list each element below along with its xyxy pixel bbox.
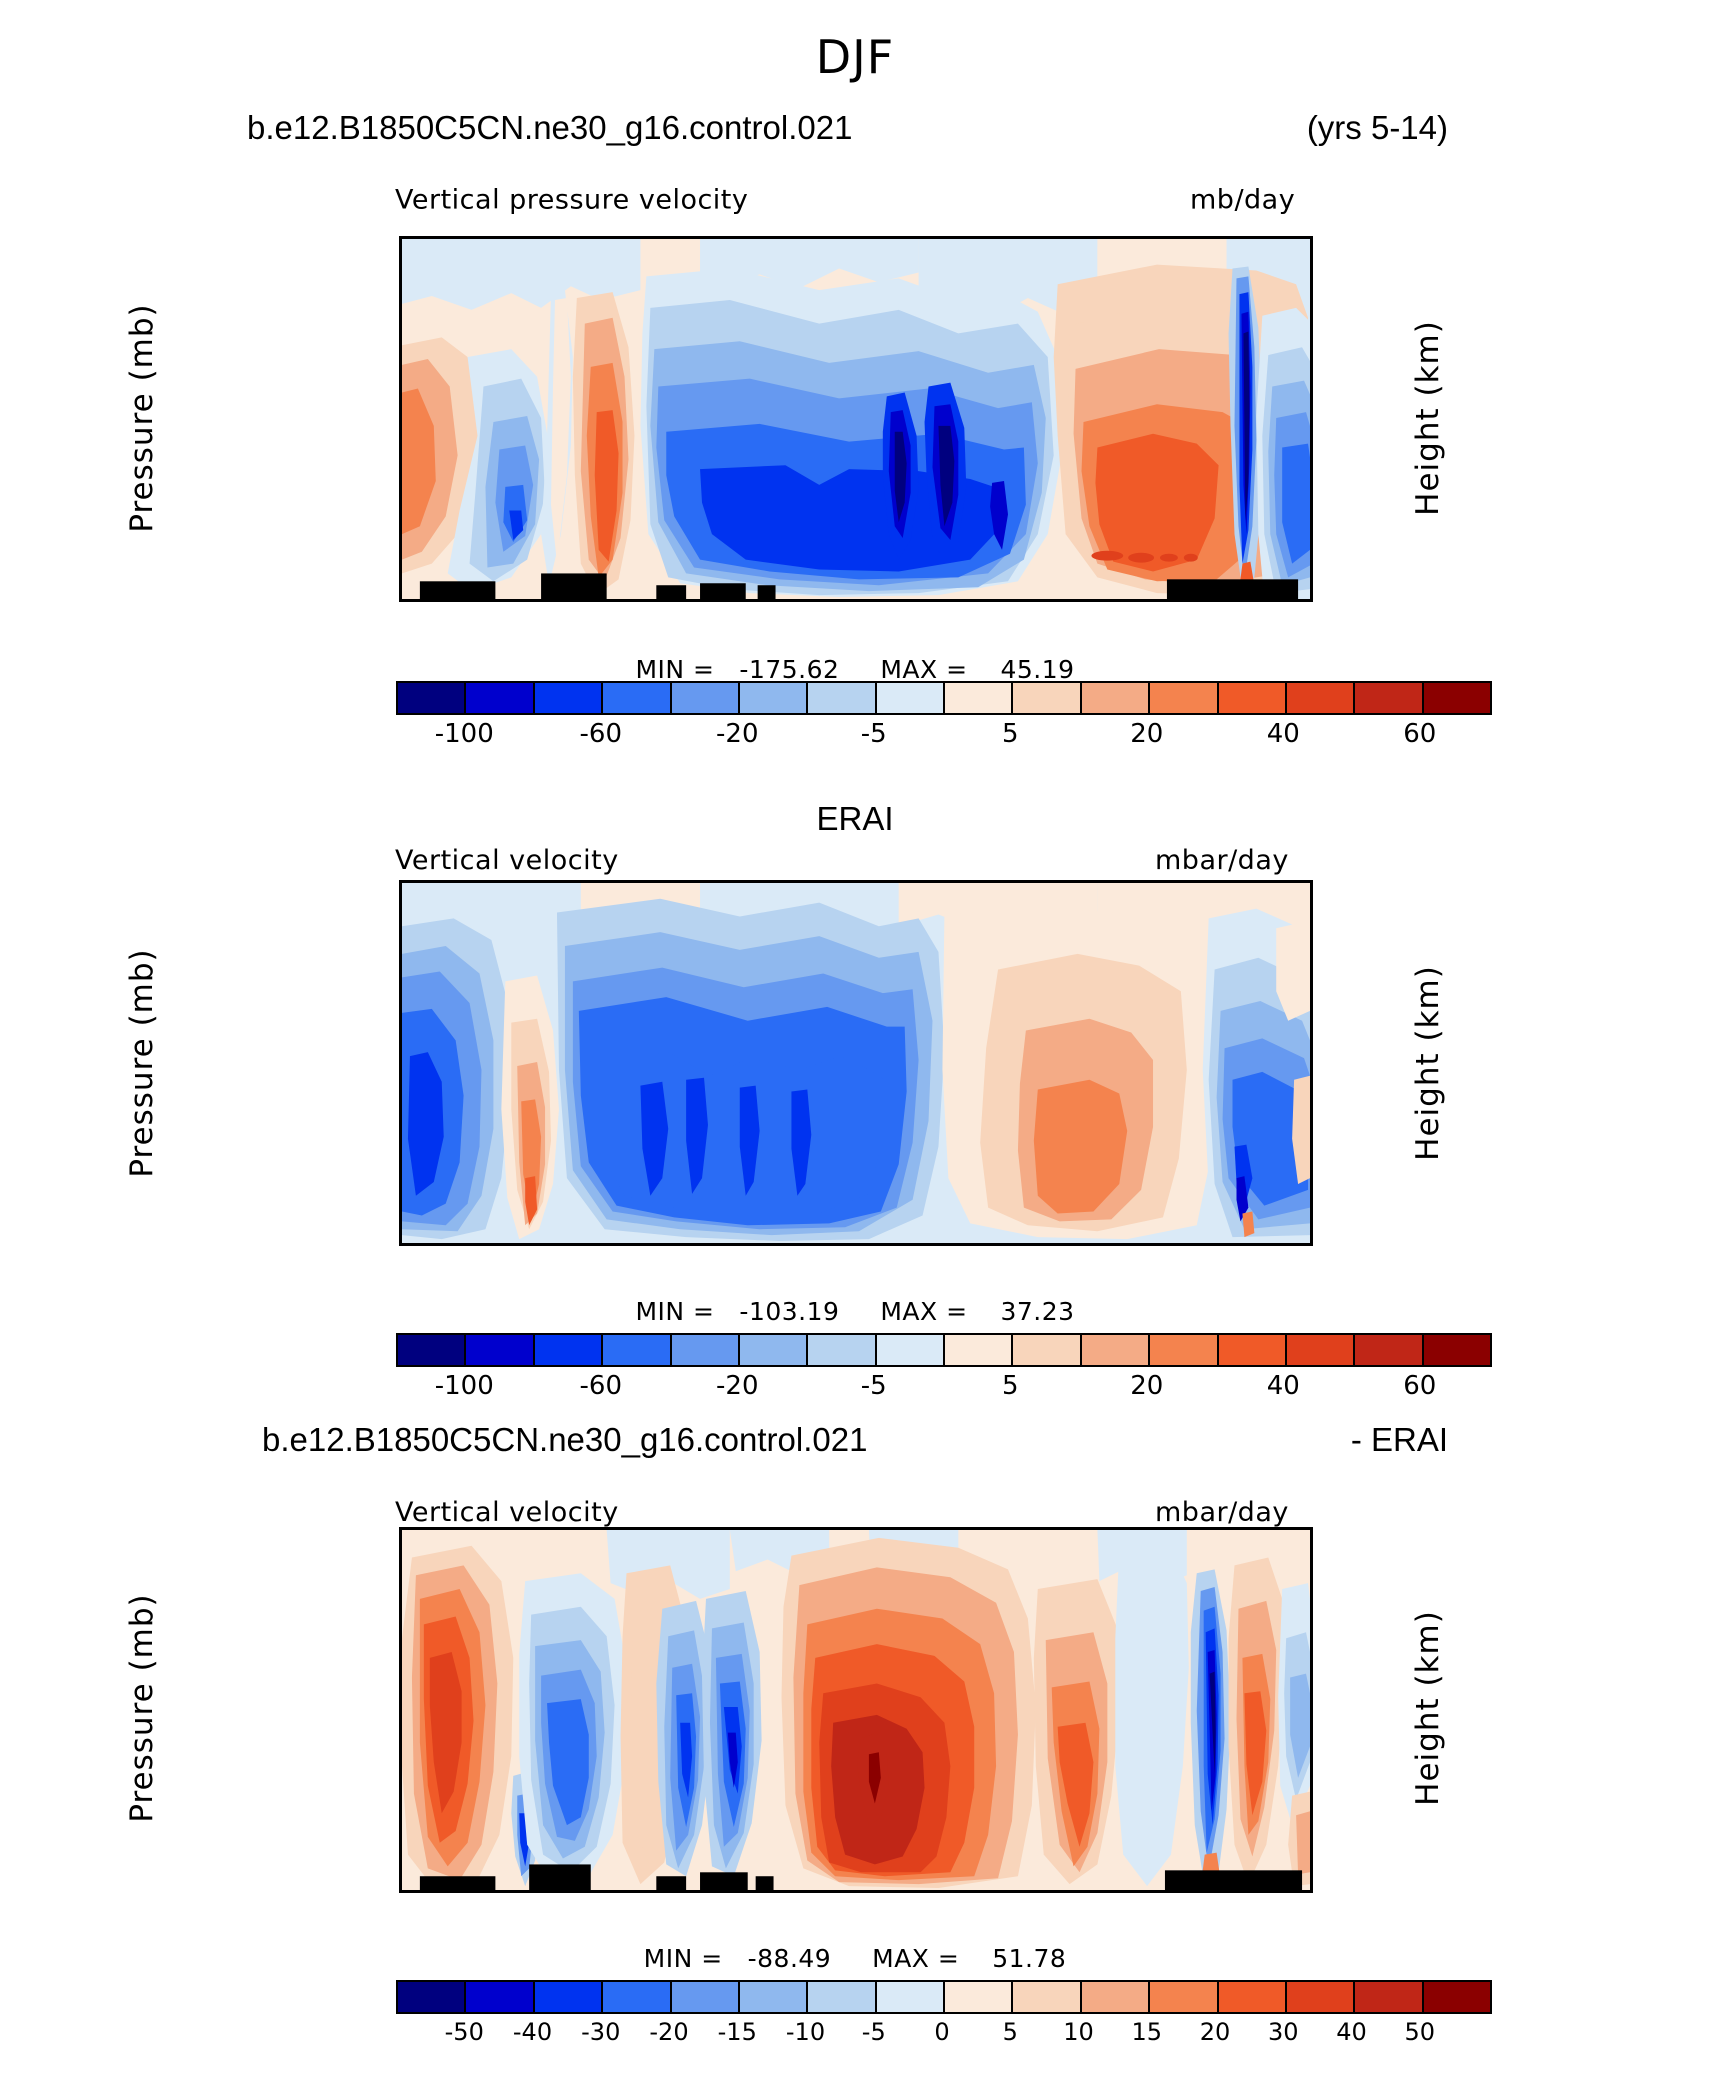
colorbar-cell-6 <box>808 1982 876 2012</box>
ytick2-150 <box>399 937 402 940</box>
colorbar-tick-label: -5 <box>861 719 887 749</box>
xtick2-60W <box>1162 1243 1165 1246</box>
colorbar-cell-6 <box>808 1335 876 1365</box>
xtick3-210 <box>934 1890 937 1893</box>
xtick2-top-180 <box>858 880 861 883</box>
colorbar-tick-label: 5 <box>1002 719 1019 749</box>
panel-difference: b.e12.B1850C5CN.ne30_g16.control.021 - E… <box>0 0 1710 700</box>
colorbar-tick-label: -60 <box>580 1371 622 1401</box>
panel-difference-units-label: mbar/day <box>1155 1497 1289 1528</box>
colorbar-cell-3 <box>603 1982 671 2012</box>
xtick2-120W <box>1010 1243 1013 1246</box>
xtick3-60E <box>554 1890 557 1893</box>
ytick2-250 <box>399 1007 402 1010</box>
xtick2-top-150 <box>782 880 785 883</box>
y2tick3-16 <box>1310 1536 1313 1539</box>
xtick3-0 <box>402 1890 405 1893</box>
colorbar-cell-4 <box>672 1982 740 2012</box>
panel-obs-colorbar-labels: -100-60-20-55204060 <box>396 1371 1488 1407</box>
colorbar-cell-9 <box>1013 1982 1081 2012</box>
colorbar-cell-13 <box>1287 1335 1355 1365</box>
xtick3-top-0 <box>402 1527 405 1530</box>
ytick3-100 <box>399 1530 402 1533</box>
xtick2-180 <box>858 1243 861 1246</box>
colorbar-cell-11 <box>1150 1982 1218 2012</box>
colorbar-tick-label: 10 <box>1063 2018 1094 2046</box>
y2tick2-4 <box>1310 1163 1313 1166</box>
xtick3-top-60W <box>1162 1527 1165 1530</box>
panel-obs-max-label: MAX = <box>880 1297 967 1326</box>
xtick3-90W <box>1086 1890 1089 1893</box>
colorbar-cell-8 <box>945 1982 1013 2012</box>
panel-difference-max-value: 51.78 <box>992 1944 1066 1973</box>
colorbar-cell-0 <box>398 1982 466 2012</box>
xtick2-30W <box>1238 1243 1241 1246</box>
panel-difference-header-right: - ERAI <box>1351 1421 1448 1459</box>
colorbar-tick-label: 50 <box>1404 2018 1435 2046</box>
colorbar-tick-label: -5 <box>861 1371 887 1401</box>
colorbar-cell-3 <box>603 1335 671 1365</box>
xtick3-top-150 <box>782 1527 785 1530</box>
panel-obs-plot-area: 100 150 200 250 300 400 500 700 850 1000… <box>399 880 1313 1246</box>
xtick2-top-90W <box>1086 880 1089 883</box>
ytick3-500 <box>399 1762 402 1765</box>
xtick3-60W <box>1162 1890 1165 1893</box>
xtick3-top-90W <box>1086 1527 1089 1530</box>
colorbar-cell-11 <box>1150 1335 1218 1365</box>
panel-difference-variable-label: Vertical velocity <box>395 1497 619 1528</box>
colorbar-tick-label: -5 <box>862 2018 886 2046</box>
xtick2-60E <box>554 1243 557 1246</box>
colorbar-tick-label: -50 <box>445 2018 484 2046</box>
colorbar-tick-label: -20 <box>716 1371 758 1401</box>
colorbar-tick-label: 60 <box>1403 719 1436 749</box>
xtick2-90 <box>630 1243 633 1246</box>
colorbar-tick-label: 30 <box>1268 2018 1299 2046</box>
panel-obs-y-axis-title: Pressure (mb) <box>124 913 160 1213</box>
xtick3-30W <box>1238 1890 1241 1893</box>
colorbar-cell-1 <box>466 1982 534 2012</box>
panel-difference-minmax: MIN = -88.49 MAX = 51.78 <box>0 1944 1710 1973</box>
xtick3-top-180 <box>858 1527 861 1530</box>
colorbar-cell-14 <box>1355 1982 1423 2012</box>
colorbar-cell-4 <box>672 1335 740 1365</box>
ytick2-700 <box>399 1171 402 1174</box>
ytick3-250 <box>399 1654 402 1657</box>
colorbar-cell-15 <box>1424 1982 1490 2012</box>
ytick2-400 <box>399 1079 402 1082</box>
colorbar-cell-2 <box>535 1982 603 2012</box>
colorbar-cell-7 <box>877 1982 945 2012</box>
xtick2-120E <box>706 1243 709 1246</box>
colorbar-cell-9 <box>1013 1335 1081 1365</box>
xtick3-180 <box>858 1890 861 1893</box>
panel-obs-min-value: -103.19 <box>739 1297 839 1326</box>
colorbar-cell-2 <box>535 1335 603 1365</box>
ytick2-200 <box>399 977 402 980</box>
xtick3-top-90 <box>630 1527 633 1530</box>
colorbar-tick-label: -15 <box>718 2018 757 2046</box>
ytick2-850 <box>399 1201 402 1204</box>
panel-difference-contour-field <box>402 1530 1310 1890</box>
colorbar-tick-label: -20 <box>649 2018 688 2046</box>
y2tick2-8 <box>1310 1073 1313 1076</box>
colorbar-tick-label: 5 <box>1003 2018 1018 2046</box>
y2tick3-12 <box>1310 1626 1313 1629</box>
panel-obs-max-value: 37.23 <box>1000 1297 1074 1326</box>
colorbar-tick-label: -40 <box>513 2018 552 2046</box>
panel-obs-minmax: MIN = -103.19 MAX = 37.23 <box>0 1297 1710 1326</box>
colorbar-cell-0 <box>398 1335 466 1365</box>
ytick3-150 <box>399 1584 402 1587</box>
panel-difference-colorbar <box>396 1980 1492 2014</box>
xtick2-top-0 <box>402 880 405 883</box>
y2tick3-4 <box>1310 1810 1313 1813</box>
colorbar-cell-8 <box>945 1335 1013 1365</box>
colorbar-tick-label: -60 <box>580 719 622 749</box>
xtick2-210 <box>934 1243 937 1246</box>
xtick3-90 <box>630 1890 633 1893</box>
panel-difference-y-axis-title: Pressure (mb) <box>124 1558 160 1858</box>
colorbar-tick-label: 20 <box>1130 719 1163 749</box>
colorbar-cell-13 <box>1287 1982 1355 2012</box>
panel-difference-colorbar-labels: -50-40-30-20-15-10-505101520304050 <box>396 2018 1488 2054</box>
colorbar-tick-label: 15 <box>1131 2018 1162 2046</box>
panel-obs-min-label: MIN = <box>635 1297 714 1326</box>
xtick2-top-30 <box>478 880 481 883</box>
ytick3-300 <box>399 1680 402 1683</box>
panel-obs-y2-axis-title: Height (km) <box>1410 913 1446 1213</box>
panel-obs-header-center: ERAI <box>0 800 1710 838</box>
xtick3-top-120E <box>706 1527 709 1530</box>
xtick3-30 <box>478 1890 481 1893</box>
colorbar-tick-label: 40 <box>1267 719 1300 749</box>
ytick2-100 <box>399 883 402 886</box>
xtick2-top-210 <box>934 880 937 883</box>
colorbar-tick-label: -100 <box>435 1371 494 1401</box>
colorbar-tick-label: -10 <box>786 2018 825 2046</box>
xtick2-90W <box>1086 1243 1089 1246</box>
xtick3-120W <box>1010 1890 1013 1893</box>
colorbar-tick-label: 40 <box>1336 2018 1367 2046</box>
panel-difference-plot-area: 100 150 200 250 300 400 500 700 850 1000… <box>399 1527 1313 1893</box>
panel-obs-contour-field <box>402 883 1310 1243</box>
colorbar-tick-label: 5 <box>1002 1371 1019 1401</box>
ytick3-200 <box>399 1624 402 1627</box>
ytick3-850 <box>399 1848 402 1851</box>
panel-difference-max-label: MAX = <box>872 1944 959 1973</box>
colorbar-tick-label: 60 <box>1403 1371 1436 1401</box>
y2tick2-12 <box>1310 979 1313 982</box>
xtick2-150 <box>782 1243 785 1246</box>
xtick3-top-210 <box>934 1527 937 1530</box>
colorbar-tick-label: -20 <box>716 719 758 749</box>
xtick3-top-30W <box>1238 1527 1241 1530</box>
panel-difference-min-value: -88.49 <box>748 1944 832 1973</box>
colorbar-cell-1 <box>466 1335 534 1365</box>
xtick2-top-120E <box>706 880 709 883</box>
colorbar-tick-label: 20 <box>1130 1371 1163 1401</box>
colorbar-tick-label: 40 <box>1267 1371 1300 1401</box>
colorbar-tick-label: 20 <box>1200 2018 1231 2046</box>
ytick3-400 <box>399 1726 402 1729</box>
colorbar-cell-10 <box>1082 1982 1150 2012</box>
colorbar-cell-7 <box>877 1335 945 1365</box>
xtick3-top-120W <box>1010 1527 1013 1530</box>
xtick3-150 <box>782 1890 785 1893</box>
colorbar-cell-12 <box>1219 1982 1287 2012</box>
xtick3-top-30 <box>478 1527 481 1530</box>
y2tick3-8 <box>1310 1720 1313 1723</box>
colorbar-cell-12 <box>1219 1335 1287 1365</box>
colorbar-tick-label: -100 <box>435 719 494 749</box>
xtick2-top-120W <box>1010 880 1013 883</box>
xtick2-30 <box>478 1243 481 1246</box>
panel-model-colorbar-labels: -100-60-20-55204060 <box>396 719 1488 755</box>
xtick2-top-90 <box>630 880 633 883</box>
panel-obs-variable-label: Vertical velocity <box>395 845 619 876</box>
panel-difference-min-label: MIN = <box>644 1944 723 1973</box>
xtick2-top-30W <box>1238 880 1241 883</box>
colorbar-cell-14 <box>1355 1335 1423 1365</box>
xtick2-0 <box>402 1243 405 1246</box>
colorbar-tick-label: 0 <box>934 2018 949 2046</box>
xtick3-120E <box>706 1890 709 1893</box>
xtick2-top-60W <box>1162 880 1165 883</box>
xtick2-top-60E <box>554 880 557 883</box>
ytick2-300 <box>399 1033 402 1036</box>
figure-root: DJF b.e12.B1850C5CN.ne30_g16.control.021… <box>0 0 1710 2074</box>
ytick2-500 <box>399 1115 402 1118</box>
colorbar-cell-10 <box>1082 1335 1150 1365</box>
panel-obs-colorbar <box>396 1333 1492 1367</box>
colorbar-tick-label: -30 <box>581 2018 620 2046</box>
panel-obs-units-label: mbar/day <box>1155 845 1289 876</box>
colorbar-cell-5 <box>740 1335 808 1365</box>
ytick3-700 <box>399 1818 402 1821</box>
y2tick2-16 <box>1310 889 1313 892</box>
xtick3-top-60E <box>554 1527 557 1530</box>
colorbar-cell-5 <box>740 1982 808 2012</box>
colorbar-cell-15 <box>1424 1335 1490 1365</box>
panel-difference-y2-axis-title: Height (km) <box>1410 1558 1446 1858</box>
panel-difference-header-left: b.e12.B1850C5CN.ne30_g16.control.021 <box>262 1421 867 1459</box>
